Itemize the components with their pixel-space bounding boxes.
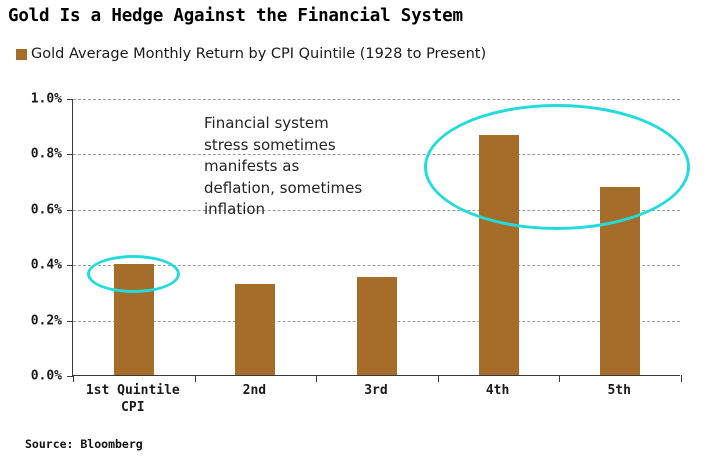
x-axis-tick (73, 375, 74, 382)
x-axis-tick (559, 375, 560, 382)
y-axis-tick (67, 265, 73, 266)
x-axis-tick-label: 3rd (315, 382, 437, 399)
x-axis-tick-label: 5th (558, 382, 680, 399)
bar[interactable] (357, 277, 397, 375)
chart-title: Gold Is a Hedge Against the Financial Sy… (8, 6, 463, 26)
y-axis-tick (67, 321, 73, 322)
y-axis-tick-label: 0.2% (2, 313, 62, 328)
y-axis-tick (67, 99, 73, 100)
x-axis-tick (195, 375, 196, 382)
legend-swatch-icon (16, 49, 27, 60)
x-axis-tick (316, 375, 317, 382)
x-axis-tick (681, 375, 682, 382)
y-axis-tick (67, 154, 73, 155)
annotation-callout-text: Financial system stress sometimes manife… (204, 113, 409, 221)
highlight-ellipse-first-quintile (87, 255, 180, 293)
x-axis-tick-label: 1st Quintile CPI (72, 382, 194, 416)
x-axis-tick-label: 4th (437, 382, 559, 399)
chart-legend: Gold Average Monthly Return by CPI Quint… (16, 47, 486, 62)
y-axis-tick (67, 210, 73, 211)
legend-label: Gold Average Monthly Return by CPI Quint… (31, 47, 486, 62)
bar[interactable] (235, 284, 275, 375)
x-axis-tick-label: 2nd (194, 382, 316, 399)
source-note: Source: Bloomberg (25, 437, 143, 451)
y-axis-tick-label: 0.6% (2, 202, 62, 217)
gridline (73, 99, 680, 100)
highlight-ellipse-fourth-fifth-quintile (424, 104, 690, 230)
y-axis-tick-label: 0.0% (2, 369, 62, 384)
y-axis-tick-label: 1.0% (2, 92, 62, 107)
y-axis-tick-label: 0.8% (2, 147, 62, 162)
chart-container: Gold Is a Hedge Against the Financial Sy… (0, 0, 712, 464)
y-axis-tick-label: 0.4% (2, 258, 62, 273)
x-axis-tick (438, 375, 439, 382)
